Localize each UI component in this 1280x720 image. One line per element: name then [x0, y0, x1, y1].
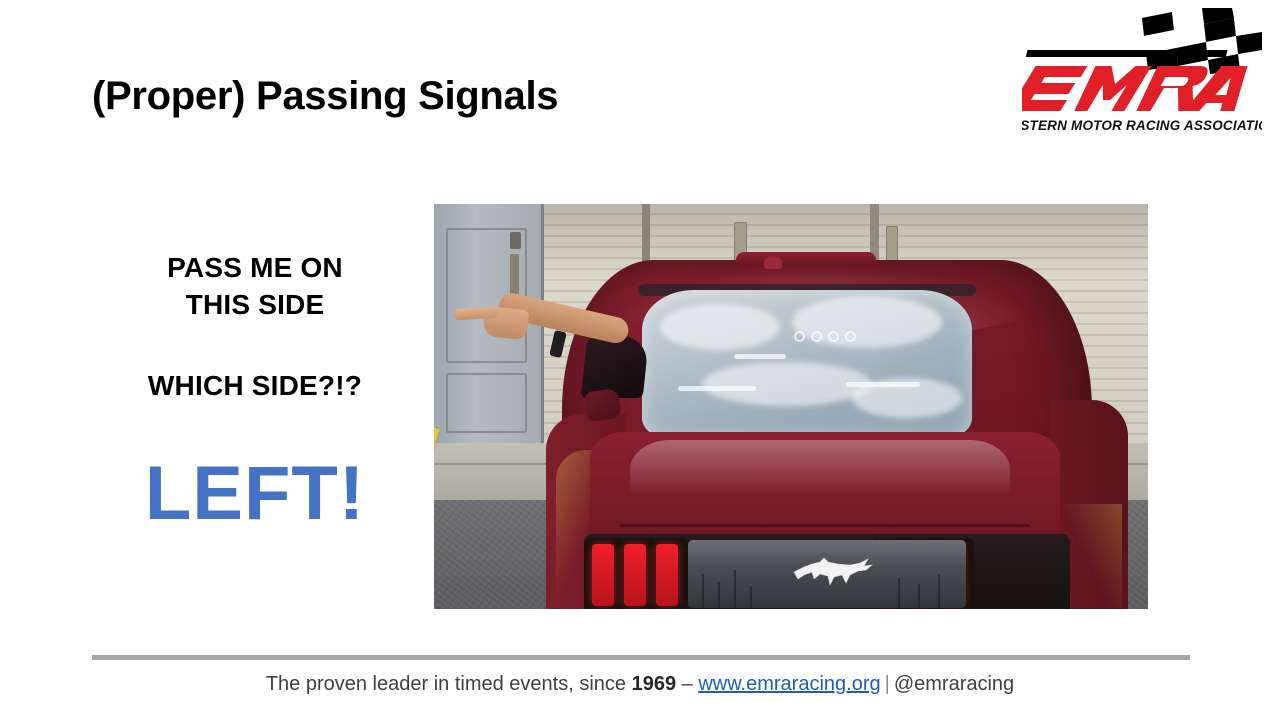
instruction-line-2: THIS SIDE [110, 287, 400, 324]
footer-divider [92, 655, 1190, 660]
answer-text: LEFT! [110, 456, 400, 532]
emra-tagline: EASTERN MOTOR RACING ASSOCIATION [1022, 118, 1262, 133]
social-handle: @emraracing [894, 673, 1014, 695]
question-text: WHICH SIDE?!? [110, 370, 400, 402]
trunk-reflection [630, 440, 1010, 496]
page-title: (Proper) Passing Signals [92, 74, 558, 119]
checkered-flag-icon [1026, 8, 1262, 74]
footer: The proven leader in timed events, since… [0, 673, 1280, 696]
rear-windshield [642, 290, 972, 438]
right-fender-reflection [1064, 504, 1122, 608]
mustang-passing-signal-photo: ★★ D GT MOTORSPORTS [434, 204, 1148, 609]
mustang-pony-emblem [790, 555, 876, 587]
antenna-base [764, 256, 782, 269]
instruction-line-1: PASS ME ON [110, 250, 400, 287]
ford-mustang-rear: ★★ D GT MOTORSPORTS [434, 204, 1148, 609]
taillight-left [584, 538, 688, 609]
footer-text-before: The proven leader in timed events, since [266, 673, 632, 695]
footer-year: 1969 [632, 673, 677, 695]
footer-dash: – [676, 673, 698, 695]
interior-controls [794, 331, 862, 342]
roof-edge [736, 252, 876, 264]
trunk-seam [620, 524, 1030, 527]
emra-logo: EASTERN MOTOR RACING ASSOCIATION [1022, 8, 1262, 136]
rear-center-panel [688, 540, 966, 608]
driver-window-opening [581, 336, 650, 398]
footer-separator: | [881, 673, 894, 695]
emra-logo-graphic: EASTERN MOTOR RACING ASSOCIATION [1022, 8, 1262, 136]
slide-canvas: EASTERN MOTOR RACING ASSOCIATION (Proper… [0, 0, 1280, 720]
website-link[interactable]: www.emraracing.org [698, 673, 880, 695]
wristwatch [549, 330, 567, 358]
left-text-column: PASS ME ON THIS SIDE WHICH SIDE?!? LEFT! [110, 250, 400, 532]
photo-scene: ★★ D GT MOTORSPORTS [434, 204, 1148, 609]
side-mirror [584, 388, 622, 422]
